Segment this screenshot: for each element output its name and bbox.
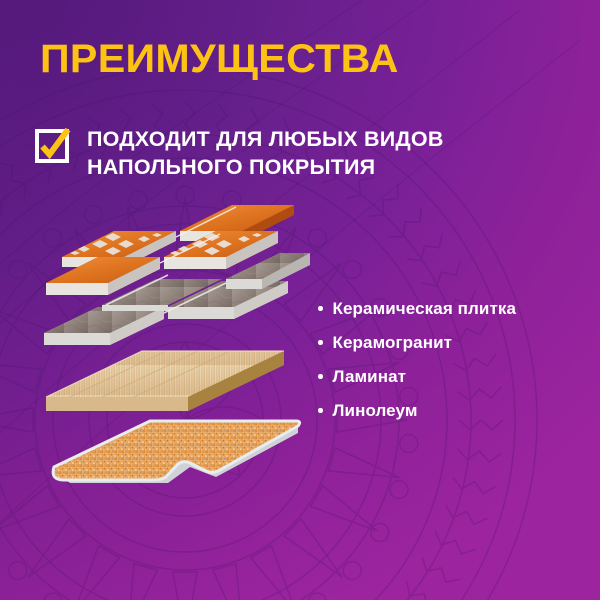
page-title: ПРЕИМУЩЕСТВА (40, 39, 399, 79)
list-item: Керамическая плитка (318, 300, 516, 317)
feature-headline-text: ПОДХОДИТ ДЛЯ ЛЮБЫХ ВИДОВ НАПОЛЬНОГО ПОКР… (87, 126, 444, 182)
list-item-label: Керамогранит (333, 334, 453, 351)
list-item-label: Керамическая плитка (333, 300, 517, 317)
flooring-stack-illustration (40, 215, 310, 525)
list-item-label: Линолеум (333, 402, 418, 419)
bullet-dot-icon (318, 408, 323, 413)
list-item: Линолеум (318, 402, 516, 419)
laminate-layer (46, 351, 284, 411)
poster-canvas: ПРЕИМУЩЕСТВА ПОДХОДИТ ДЛЯ ЛЮБЫХ ВИДОВ НА… (0, 0, 600, 600)
bullet-dot-icon (318, 306, 323, 311)
linoleum-layer (52, 421, 300, 483)
list-item: Керамогранит (318, 334, 516, 351)
list-item-label: Ламинат (333, 368, 407, 385)
feature-headline-line1: ПОДХОДИТ ДЛЯ ЛЮБЫХ ВИДОВ (87, 127, 444, 151)
checkbox-checked-icon (35, 129, 69, 163)
bullet-dot-icon (318, 374, 323, 379)
feature-headline: ПОДХОДИТ ДЛЯ ЛЮБЫХ ВИДОВ НАПОЛЬНОГО ПОКР… (35, 126, 444, 182)
flooring-types-list: Керамическая плитка Керамогранит Ламинат… (318, 300, 516, 436)
list-item: Ламинат (318, 368, 516, 385)
bullet-dot-icon (318, 340, 323, 345)
feature-headline-line2: НАПОЛЬНОГО ПОКРЫТИЯ (87, 155, 375, 179)
